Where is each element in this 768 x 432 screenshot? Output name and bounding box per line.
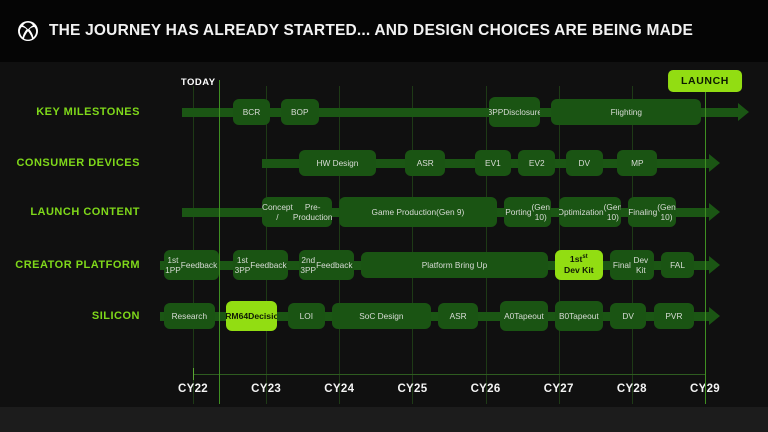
axis-label-cy25: CY25	[397, 383, 427, 395]
timeline-bar[interactable]: A0Tapeout	[500, 301, 548, 331]
gridline-cy26	[486, 86, 487, 404]
timeline-bar[interactable]: BCR	[233, 99, 270, 125]
timeline-bar[interactable]: Platform Bring Up	[361, 252, 548, 278]
row-label-launch-content: LAUNCH CONTENT	[30, 206, 140, 218]
track-arrow-icon	[709, 307, 720, 325]
timeline-bar[interactable]: Flighting	[551, 99, 701, 125]
axis-label-cy24: CY24	[324, 383, 354, 395]
gridline-cy23	[266, 86, 267, 404]
launch-badge[interactable]: LAUNCH	[668, 70, 742, 92]
timeline-bar[interactable]: 1st 3PPFeedback	[233, 250, 288, 280]
track-arrow-icon	[709, 203, 720, 221]
axis-label-cy27: CY27	[544, 383, 574, 395]
gridline-cy25	[412, 86, 413, 404]
timeline-bar[interactable]: FAL	[661, 252, 694, 278]
timeline-bar[interactable]: 2nd 3PPFeedback	[299, 250, 354, 280]
timeline-bar[interactable]: 1st 1PPFeedback	[164, 250, 219, 280]
timeline-bar[interactable]: 3PPDisclosure	[489, 97, 540, 127]
timeline-bar[interactable]: Game Production(Gen 9)	[339, 197, 496, 227]
timeline-bar[interactable]: HW Design	[299, 150, 376, 176]
timeline-bar[interactable]: Concept /Pre-Production	[262, 197, 331, 227]
today-marker-label: TODAY	[181, 77, 220, 88]
timeline-bar[interactable]: 1ststDev Kit	[555, 250, 603, 280]
track-arrow-icon	[738, 103, 749, 121]
timeline-bar[interactable]: DV	[566, 150, 603, 176]
gridline-cy22	[193, 86, 194, 404]
timeline-bar[interactable]: SoC Design	[332, 303, 431, 329]
track-arrow-icon	[709, 154, 720, 172]
roadmap-panel: KEY MILESTONESBCRBOP3PPDisclosureFlighti…	[0, 62, 768, 407]
axis-label-cy22: CY22	[178, 383, 208, 395]
launch-marker-line	[705, 80, 706, 404]
row-label-silicon: SILICON	[92, 310, 140, 322]
timeline-bar[interactable]: Research	[164, 303, 215, 329]
axis-label-cy23: CY23	[251, 383, 281, 395]
axis-label-cy26: CY26	[471, 383, 501, 395]
timeline-bar[interactable]: ASR	[438, 303, 478, 329]
axis-tick-cy22	[193, 368, 194, 380]
timeline-bar[interactable]: B0Tapeout	[555, 301, 603, 331]
gridline-cy27	[559, 86, 560, 404]
timeline-bar[interactable]: PVR	[654, 303, 694, 329]
timeline-bar[interactable]: FinalDev Kit	[610, 250, 654, 280]
slide-root: THE JOURNEY HAS ALREADY STARTED... AND D…	[0, 0, 768, 432]
axis-baseline	[193, 374, 705, 375]
today-marker-line	[219, 80, 220, 404]
timeline-bar[interactable]: LOI	[288, 303, 325, 329]
gridline-cy28	[632, 86, 633, 404]
timeline-bar[interactable]: ARM64Decision	[226, 301, 277, 331]
timeline-bar[interactable]: ASR	[405, 150, 445, 176]
row-label-creator-platform: CREATOR PLATFORM	[15, 259, 140, 271]
row-label-key-milestones: KEY MILESTONES	[36, 106, 140, 118]
timeline-bar[interactable]: DV	[610, 303, 647, 329]
row-label-consumer-devices: CONSUMER DEVICES	[16, 157, 140, 169]
page-title: THE JOURNEY HAS ALREADY STARTED... AND D…	[49, 22, 693, 40]
axis-label-cy28: CY28	[617, 383, 647, 395]
xbox-logo-icon	[18, 21, 38, 41]
timeline-bar[interactable]: Porting(Gen 10)	[504, 197, 552, 227]
track-arrow-icon	[709, 256, 720, 274]
timeline-bar[interactable]: EV2	[518, 150, 555, 176]
footer-strip	[0, 407, 768, 432]
timeline-bar[interactable]: BOP	[281, 99, 319, 125]
gridline-cy24	[339, 86, 340, 404]
timeline-bar[interactable]: Finaling(Gen 10)	[628, 197, 676, 227]
slide-header: THE JOURNEY HAS ALREADY STARTED... AND D…	[0, 0, 768, 62]
timeline-bar[interactable]: MP	[617, 150, 657, 176]
timeline-bar[interactable]: EV1	[475, 150, 512, 176]
timeline-bar[interactable]: Optimization(Gen 10)	[559, 197, 621, 227]
